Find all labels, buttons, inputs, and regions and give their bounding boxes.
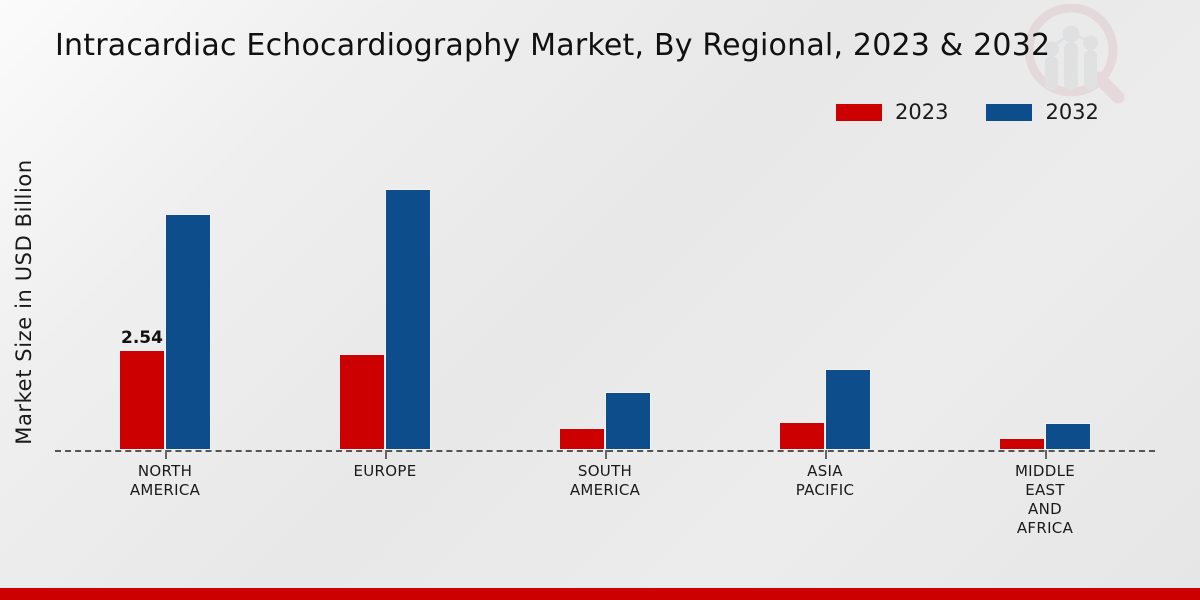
legend-swatch-2032	[986, 104, 1032, 121]
y-axis-title: Market Size in USD Billion	[12, 137, 36, 467]
x-axis-tick	[605, 450, 607, 459]
x-axis-label-north-america: NORTHAMERICA	[95, 462, 235, 500]
legend-label-2032: 2032	[1045, 100, 1098, 124]
bar-2032-north-america[interactable]	[165, 214, 211, 450]
x-axis-label-asia-pacific: ASIAPACIFIC	[755, 462, 895, 500]
x-axis-tick	[825, 450, 827, 459]
bar-2023-asia-pacific[interactable]	[779, 422, 825, 450]
bar-2023-europe[interactable]	[339, 354, 385, 450]
bar-2023-middle-east-and-africa[interactable]	[999, 438, 1045, 450]
chart-title: Intracardiac Echocardiography Market, By…	[55, 28, 1075, 63]
legend-swatch-2023	[836, 104, 882, 121]
bar-2032-south-america[interactable]	[605, 392, 651, 450]
bar-2032-middle-east-and-africa[interactable]	[1045, 423, 1091, 450]
legend-label-2023: 2023	[895, 100, 948, 124]
bar-2023-north-america[interactable]	[119, 350, 165, 450]
x-axis-label-south-america: SOUTHAMERICA	[535, 462, 675, 500]
legend-item-2032[interactable]: 2032	[986, 100, 1098, 124]
footer-accent-bar	[0, 588, 1200, 600]
x-axis-label-europe: EUROPE	[315, 462, 455, 481]
x-axis-tick	[385, 450, 387, 459]
plot-area: 2.54NORTHAMERICAEUROPESOUTHAMERICAASIAPA…	[55, 150, 1155, 450]
legend-item-2023[interactable]: 2023	[836, 100, 948, 124]
bar-2032-asia-pacific[interactable]	[825, 369, 871, 450]
chart-legend: 2023 2032	[836, 100, 1099, 124]
bar-2023-south-america[interactable]	[559, 428, 605, 451]
bar-value-label: 2.54	[121, 328, 163, 348]
x-axis-tick	[165, 450, 167, 459]
x-axis-label-middle-east-and-africa: MIDDLEEASTANDAFRICA	[975, 462, 1115, 538]
x-axis-tick	[1045, 450, 1047, 459]
chart-page: Intracardiac Echocardiography Market, By…	[0, 0, 1200, 600]
bar-2032-europe[interactable]	[385, 189, 431, 450]
